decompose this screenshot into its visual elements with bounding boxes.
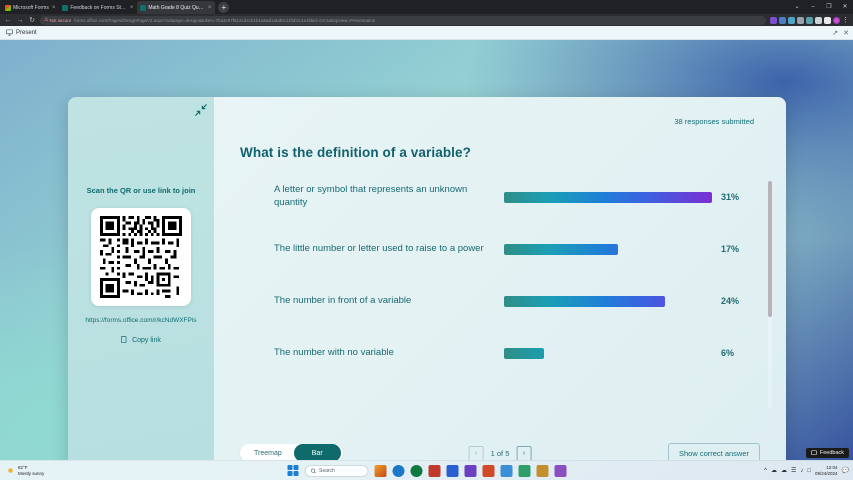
reload-button[interactable]: ↻ (28, 16, 36, 24)
extension-icon-5[interactable] (806, 17, 813, 24)
answers-list: A letter or symbol that represents an un… (214, 184, 786, 431)
taskbar-clock[interactable]: 12:04 09/24/2024 (815, 465, 838, 476)
answer-bar-wrap: 24% (504, 296, 756, 307)
pager-prev-button[interactable]: ‹ (469, 446, 484, 461)
qr-code-card (91, 208, 191, 306)
taskbar-app-icon-teams[interactable] (464, 465, 476, 477)
weather-condition: Mostly sunny (18, 471, 44, 476)
answer-row: The little number or letter used to rais… (274, 236, 756, 262)
presentation-stage: Scan the QR or use link to join (0, 40, 853, 460)
present-screen-icon (6, 29, 13, 36)
show-correct-answer-button[interactable]: Show correct answer (668, 443, 760, 460)
taskbar-app-icon-edge[interactable] (392, 465, 404, 477)
taskbar-app-icon-outlook[interactable] (500, 465, 512, 477)
results-scrollbar[interactable] (768, 181, 772, 409)
answer-label: A letter or symbol that represents an un… (274, 184, 504, 210)
answer-percent: 31% (721, 192, 739, 202)
answer-bar-fill (504, 348, 544, 359)
tab-close-icon[interactable]: × (130, 5, 134, 11)
split-screen-icon[interactable] (824, 17, 831, 24)
tray-expand-icon[interactable]: ^ (764, 468, 767, 474)
tab-title: Math Grade 8 Quiz Que... (148, 5, 204, 11)
view-option-bar[interactable]: Bar (294, 444, 341, 460)
responses-count: 38 responses submitted (674, 117, 754, 126)
answer-bar-fill (504, 244, 618, 255)
tab-title: Feedback on Forms Style Exper... (70, 5, 126, 11)
window-controls: ⌄ – ❐ ✕ (789, 0, 853, 13)
taskbar-app-icon-office[interactable] (428, 465, 440, 477)
present-button[interactable]: Present (6, 29, 37, 36)
extension-icon-3[interactable] (788, 17, 795, 24)
tab-close-icon[interactable]: × (52, 5, 56, 11)
minimize-button[interactable]: – (805, 0, 821, 13)
copy-link-button[interactable]: Copy link (121, 336, 161, 344)
extension-icon-1[interactable] (770, 17, 777, 24)
browser-tab-1[interactable]: Feedback on Forms Style Exper... × (59, 1, 137, 14)
feedback-icon (811, 450, 817, 456)
answer-percent: 17% (721, 244, 739, 254)
results-panel: 38 responses submitted What is the defin… (214, 97, 786, 460)
taskbar-app-icon-explorer[interactable] (374, 465, 386, 477)
extension-puzzle-icon[interactable] (815, 17, 822, 24)
clock-date: 09/24/2024 (815, 471, 838, 476)
answer-percent: 24% (721, 296, 739, 306)
copy-link-label: Copy link (132, 337, 161, 344)
answer-bar-fill (504, 192, 712, 203)
presentation-card: Scan the QR or use link to join (68, 97, 786, 460)
extensions-bar: ⋮ (770, 16, 849, 24)
join-url-line1: https://forms.office.com/r/k (85, 317, 161, 324)
feedback-button[interactable]: Feedback (806, 448, 849, 458)
present-label: Present (16, 30, 37, 36)
taskbar-center: Search (287, 465, 566, 477)
not-secure-indicator[interactable]: ⚠ Not secure (44, 17, 71, 23)
answer-bar-track (504, 296, 712, 307)
collapse-arrows-icon[interactable] (194, 103, 208, 117)
taskbar-app-icon-word[interactable] (446, 465, 458, 477)
answer-row: A letter or symbol that represents an un… (274, 184, 756, 210)
search-icon (310, 468, 316, 474)
tab-title: Microsoft Forms (13, 5, 49, 11)
url-input[interactable]: ⚠ Not secure forms.office.com/Pages/Desi… (40, 16, 766, 25)
extension-icon-4[interactable] (797, 17, 804, 24)
browser-address-bar: ← → ↻ ⚠ Not secure forms.office.com/Page… (0, 14, 853, 26)
onedrive-icon[interactable]: ☁ (771, 467, 777, 474)
taskbar-search-placeholder: Search (319, 468, 335, 474)
notifications-icon[interactable]: 💬 (842, 467, 849, 474)
taskbar-app-icon-onenote[interactable] (518, 465, 530, 477)
question-pager: ‹ 1 of 5 › (469, 446, 532, 461)
weather-widget[interactable]: 82°F Mostly sunny (0, 465, 44, 475)
back-button[interactable]: ← (4, 17, 12, 24)
maximize-button[interactable]: ❐ (821, 0, 837, 13)
screen: Microsoft Forms × Feedback on Forms Styl… (0, 0, 853, 480)
feedback-label: Feedback (820, 450, 844, 456)
present-toolbar-right: ↗ ✕ (832, 26, 849, 40)
answer-bar-track (504, 348, 712, 359)
join-url-line2: cNdWXFPis (162, 317, 197, 324)
answer-bar-wrap: 17% (504, 244, 756, 255)
network-icon[interactable]: ☰ (791, 467, 796, 474)
fullscreen-expand-icon[interactable]: ↗ (832, 29, 838, 37)
taskbar-app-icon-powerpoint[interactable] (482, 465, 494, 477)
tab-favicon-forms-icon (62, 5, 68, 11)
browser-tab-0[interactable]: Microsoft Forms × (2, 1, 59, 14)
tab-favicon-forms-icon (140, 5, 146, 11)
system-tray: ^ ☁ ☁ ☰ ♪ □ 12:04 09/24/2024 💬 (764, 465, 849, 476)
cloud-icon[interactable]: ☁ (781, 467, 787, 474)
pager-next-button[interactable]: › (516, 446, 531, 461)
answer-bar-wrap: 6% (504, 348, 756, 359)
join-instructions: Scan the QR or use link to join (81, 185, 201, 196)
answer-row: The number with no variable 6% (274, 340, 756, 366)
start-button-icon[interactable] (287, 465, 298, 476)
forms-present-toolbar: Present ↗ ✕ (0, 26, 853, 40)
forward-button[interactable]: → (16, 17, 24, 24)
results-footer: Treemap Bar ‹ 1 of 5 › Show correct answ… (214, 431, 786, 460)
qr-code-icon (100, 216, 182, 298)
battery-icon[interactable]: □ (807, 468, 811, 474)
new-tab-button[interactable]: + (218, 2, 229, 13)
answer-label: The little number or letter used to rais… (274, 243, 504, 256)
view-option-treemap[interactable]: Treemap (242, 446, 294, 460)
browser-menu-icon[interactable]: ⋮ (842, 16, 849, 24)
answer-label: The number with no variable (274, 347, 504, 360)
taskbar-search-input[interactable]: Search (304, 465, 368, 477)
browser-tab-2[interactable]: Math Grade 8 Quiz Que... × (137, 1, 215, 14)
browser-tab-strip: Microsoft Forms × Feedback on Forms Styl… (0, 0, 853, 14)
answer-percent: 6% (721, 348, 734, 358)
answer-bar-wrap: 31% (504, 192, 756, 203)
taskbar-app-icon-folder[interactable] (536, 465, 548, 477)
tab-favicon-microsoft-icon (5, 5, 11, 11)
answer-label: The number in front of a variable (274, 295, 504, 308)
windows-taskbar: 82°F Mostly sunny Search (0, 460, 853, 480)
taskbar-app-icon-store[interactable] (554, 465, 566, 477)
warning-icon: ⚠ (44, 17, 48, 23)
close-window-button[interactable]: ✕ (837, 0, 853, 13)
join-panel: Scan the QR or use link to join (68, 97, 214, 460)
tab-search-chevron-icon[interactable]: ⌄ (789, 0, 805, 13)
volume-icon[interactable]: ♪ (800, 468, 803, 474)
join-url[interactable]: https://forms.office.com/r/kcNdWXFPis (83, 316, 199, 326)
browser-window: Microsoft Forms × Feedback on Forms Styl… (0, 0, 853, 460)
taskbar-app-icon-excel[interactable] (410, 465, 422, 477)
pager-label: 1 of 5 (491, 449, 510, 458)
answer-row: The number in front of a variable 24% (274, 288, 756, 314)
not-secure-label: Not secure (49, 18, 71, 23)
answer-bar-track (504, 244, 712, 255)
scrollbar-thumb[interactable] (768, 181, 772, 317)
sun-icon (6, 466, 15, 475)
extension-icon-2[interactable] (779, 17, 786, 24)
answer-bar-fill (504, 296, 665, 307)
url-text: forms.office.com/Pages/DesignPageV2.aspx… (74, 18, 375, 23)
profile-avatar[interactable] (833, 17, 840, 24)
question-title: What is the definition of a variable? (240, 145, 786, 160)
chart-view-toggle: Treemap Bar (240, 444, 343, 460)
tab-close-icon[interactable]: × (208, 5, 212, 11)
copy-icon (121, 336, 128, 344)
answer-bar-track (504, 192, 712, 203)
exit-present-icon[interactable]: ✕ (843, 29, 849, 37)
